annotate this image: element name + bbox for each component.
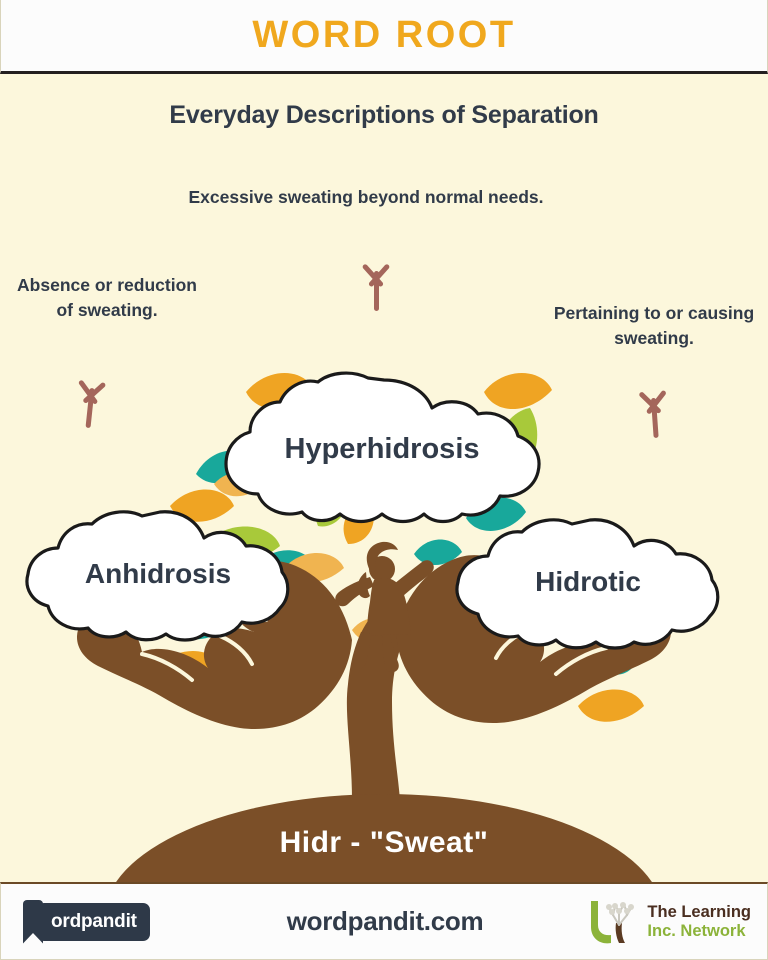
cloud-anhidrosis[interactable]: Anhidrosis: [22, 506, 294, 642]
caption-anhidrosis: Absence or reduction of sweating.: [8, 273, 206, 323]
cloud-hyperhidrosis[interactable]: Hyperhidrosis: [222, 374, 542, 524]
the-learning-inc-network-logo[interactable]: The Learning Inc. Network: [583, 897, 751, 947]
cloud-hidrotic[interactable]: Hidrotic: [452, 514, 724, 650]
bookmark-icon: [23, 900, 43, 944]
wordpandit-logo[interactable]: ordpandit: [23, 900, 150, 944]
partner-name-line2: Inc. Network: [647, 922, 751, 940]
infographic-body: Everyday Descriptions of Separation: [0, 74, 768, 882]
footer-bar: wordpandit.com ordpandit: [0, 882, 768, 960]
caption-hyperhidrosis: Excessive sweating beyond normal needs.: [186, 185, 546, 210]
partner-logo-text: The Learning Inc. Network: [647, 903, 751, 940]
tree-u-mark-icon: [583, 897, 641, 947]
root-word-label: Hidr - "Sweat": [104, 826, 664, 860]
arrow-up-icon-top: [358, 259, 394, 315]
wordpandit-logo-text: ordpandit: [37, 903, 150, 941]
page-title: WORD ROOT: [252, 14, 515, 57]
word-root-infographic: WORD ROOT Everyday Descriptions of Separ…: [0, 0, 768, 960]
arrow-up-icon-left: [69, 374, 111, 433]
header-bar: WORD ROOT: [0, 0, 768, 74]
arrow-up-icon-right: [634, 385, 674, 443]
partner-name-line1: The Learning: [647, 903, 751, 921]
caption-hidrotic: Pertaining to or causing sweating.: [546, 301, 762, 351]
